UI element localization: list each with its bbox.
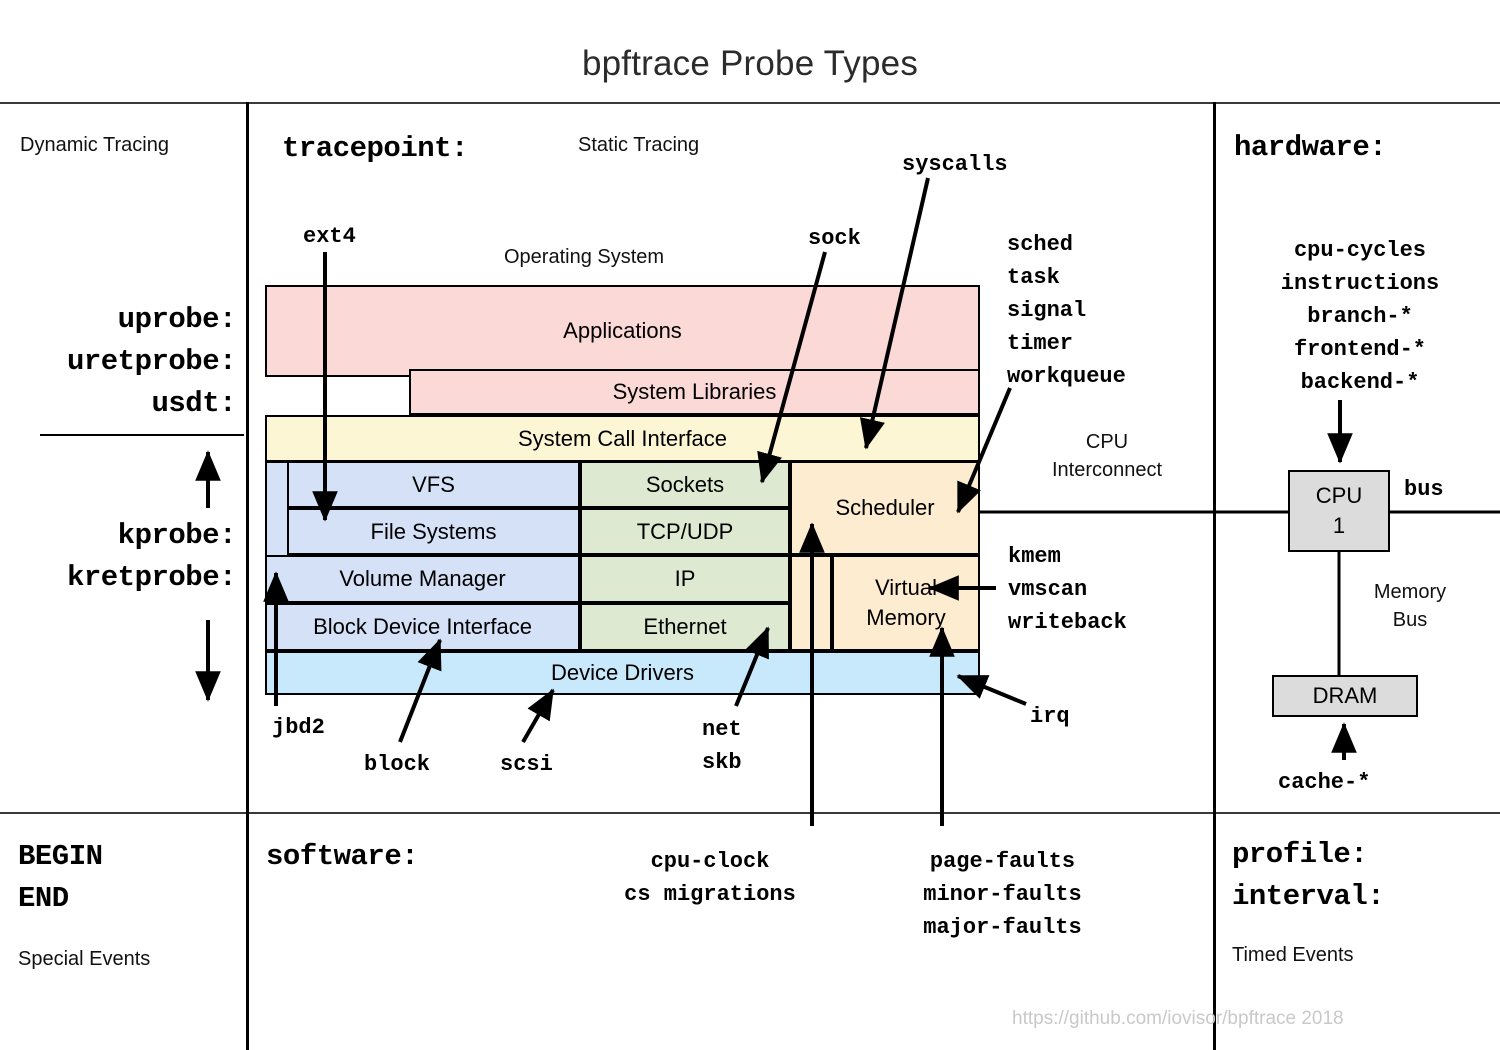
os-box-system-call-interface: System Call Interface xyxy=(265,415,980,462)
hardware-label-cache: cache-* xyxy=(1278,768,1370,798)
os-box-ip: IP xyxy=(580,555,790,603)
cpu-interconnect-caption: CPU Interconnect xyxy=(1022,428,1192,484)
probe-kretprobe: kretprobe: xyxy=(0,561,236,594)
os-box-scheduler-spine xyxy=(790,555,832,651)
os-label-system-libraries: System Libraries xyxy=(613,379,777,405)
probe-tracepoint: tracepoint: xyxy=(282,132,468,165)
tracepoint-label-kmem-group: kmem vmscan writeback xyxy=(1008,540,1127,639)
tracepoint-label-jbd2: jbd2 xyxy=(272,713,325,743)
hardware-label-frontend: frontend-* xyxy=(1224,333,1496,366)
timed-events-caption: Timed Events xyxy=(1232,944,1354,967)
tracepoint-label-kmem: kmem xyxy=(1008,540,1127,573)
probe-usdt: usdt: xyxy=(0,387,236,420)
os-box-device-drivers: Device Drivers xyxy=(265,651,980,695)
tracepoint-label-workqueue: workqueue xyxy=(1007,360,1126,393)
tracepoint-label-writeback: writeback xyxy=(1008,606,1127,639)
tracepoint-label-scsi: scsi xyxy=(500,750,553,780)
os-label-file-systems: File Systems xyxy=(371,519,497,545)
hardware-label-dram: DRAM xyxy=(1313,683,1378,709)
tracepoint-label-timer: timer xyxy=(1007,327,1126,360)
os-label-tcp-udp: TCP/UDP xyxy=(637,519,734,545)
tracepoint-label-sock: sock xyxy=(808,224,861,254)
os-box-ethernet: Ethernet xyxy=(580,603,790,651)
tracepoint-label-task: task xyxy=(1007,261,1126,294)
software-group-cpu-clock: cpu-clock cs migrations xyxy=(590,845,830,911)
os-label-device-drivers: Device Drivers xyxy=(551,660,694,686)
left-column-header: Dynamic Tracing xyxy=(20,134,169,157)
tracepoint-label-sched-group: sched task signal timer workqueue xyxy=(1007,228,1126,393)
probe-hardware: hardware: xyxy=(1234,131,1386,164)
hardware-box-cpu: CPU 1 xyxy=(1288,470,1390,552)
os-box-sockets: Sockets xyxy=(580,461,790,508)
cpu-interconnect-line1: CPU xyxy=(1022,428,1192,456)
hardware-label-backend: backend-* xyxy=(1224,366,1496,399)
credit-text: https://github.com/iovisor/bpftrace 2018 xyxy=(1012,1008,1344,1030)
os-label-scheduler: Scheduler xyxy=(835,495,934,521)
probe-end: END xyxy=(18,882,69,915)
hardware-label-cpu-cycles: cpu-cycles xyxy=(1224,234,1496,267)
hardware-events-group: cpu-cycles instructions branch-* fronten… xyxy=(1224,234,1496,399)
os-box-block-device-interface: Block Device Interface xyxy=(265,603,580,651)
probe-software: software: xyxy=(266,840,418,873)
os-label-ip: IP xyxy=(675,566,696,592)
software-label-minor-faults: minor-faults xyxy=(880,878,1125,911)
os-label-sockets: Sockets xyxy=(646,472,724,498)
software-group-page-faults: page-faults minor-faults major-faults xyxy=(880,845,1125,944)
hardware-label-bus: bus xyxy=(1404,475,1444,505)
os-label-block-device-interface: Block Device Interface xyxy=(313,614,532,640)
os-label-system-call-interface: System Call Interface xyxy=(518,426,727,452)
divider-bottom xyxy=(0,812,1500,814)
software-label-major-faults: major-faults xyxy=(880,911,1125,944)
hardware-box-dram: DRAM xyxy=(1272,675,1418,717)
tracepoint-label-signal: signal xyxy=(1007,294,1126,327)
tracepoint-label-block: block xyxy=(364,750,430,780)
bpftrace-probe-types-diagram: bpftrace Probe Types Dynamic Tracing upr… xyxy=(0,0,1500,1050)
os-box-tcp-udp: TCP/UDP xyxy=(580,508,790,555)
tracepoint-label-syscalls: syscalls xyxy=(902,150,1008,180)
page-title: bpftrace Probe Types xyxy=(0,44,1500,84)
os-label-vfs: VFS xyxy=(412,472,455,498)
hardware-label-cpu: CPU xyxy=(1316,481,1362,511)
os-label-virtual-memory-line1: Virtual xyxy=(875,573,937,603)
hardware-label-branch: branch-* xyxy=(1224,300,1496,333)
divider-right-column xyxy=(1213,102,1216,1050)
os-label-volume-manager: Volume Manager xyxy=(339,566,505,592)
probe-interval: interval: xyxy=(1232,880,1384,913)
tracepoint-label-vmscan: vmscan xyxy=(1008,573,1127,606)
tracepoint-label-ext4: ext4 xyxy=(303,222,356,252)
probe-begin: BEGIN xyxy=(18,840,103,873)
tracepoint-label-net: net xyxy=(702,713,742,746)
divider-left-column xyxy=(246,102,249,1050)
cpu-interconnect-line2: Interconnect xyxy=(1022,456,1192,484)
probe-profile: profile: xyxy=(1232,838,1367,871)
arrow-scsi xyxy=(523,690,553,742)
operating-system-caption: Operating System xyxy=(504,246,664,269)
probe-uretprobe: uretprobe: xyxy=(0,345,236,378)
special-events-caption: Special Events xyxy=(18,948,150,971)
os-box-system-libraries: System Libraries xyxy=(409,369,980,415)
os-box-file-systems: File Systems xyxy=(287,508,580,555)
memory-bus-line1: Memory xyxy=(1340,578,1480,606)
os-box-applications: Applications xyxy=(265,285,980,377)
os-label-ethernet: Ethernet xyxy=(643,614,726,640)
probe-uprobe: uprobe: xyxy=(0,303,236,336)
static-tracing-caption: Static Tracing xyxy=(578,134,699,157)
memory-bus-caption: Memory Bus xyxy=(1340,578,1480,634)
os-box-volume-manager: Volume Manager xyxy=(265,555,580,603)
software-label-page-faults: page-faults xyxy=(880,845,1125,878)
memory-bus-line2: Bus xyxy=(1340,606,1480,634)
hardware-label-instructions: instructions xyxy=(1224,267,1496,300)
os-label-virtual-memory-line2: Memory xyxy=(866,603,945,633)
os-box-virtual-memory: Virtual Memory xyxy=(832,555,980,651)
os-label-applications: Applications xyxy=(563,318,682,344)
divider-top xyxy=(0,102,1500,104)
left-column-separator xyxy=(40,434,244,436)
hardware-label-cpu-number: 1 xyxy=(1333,511,1345,541)
software-label-cpu-clock: cpu-clock xyxy=(590,845,830,878)
os-box-vfs: VFS xyxy=(287,461,580,508)
tracepoint-label-irq: irq xyxy=(1030,702,1070,732)
tracepoint-label-sched: sched xyxy=(1007,228,1126,261)
tracepoint-label-skb: skb xyxy=(702,746,742,779)
software-label-cs-migrations: cs migrations xyxy=(590,878,830,911)
probe-kprobe: kprobe: xyxy=(0,519,236,552)
tracepoint-label-net-skb-group: net skb xyxy=(702,713,742,779)
os-box-scheduler: Scheduler xyxy=(790,461,980,555)
